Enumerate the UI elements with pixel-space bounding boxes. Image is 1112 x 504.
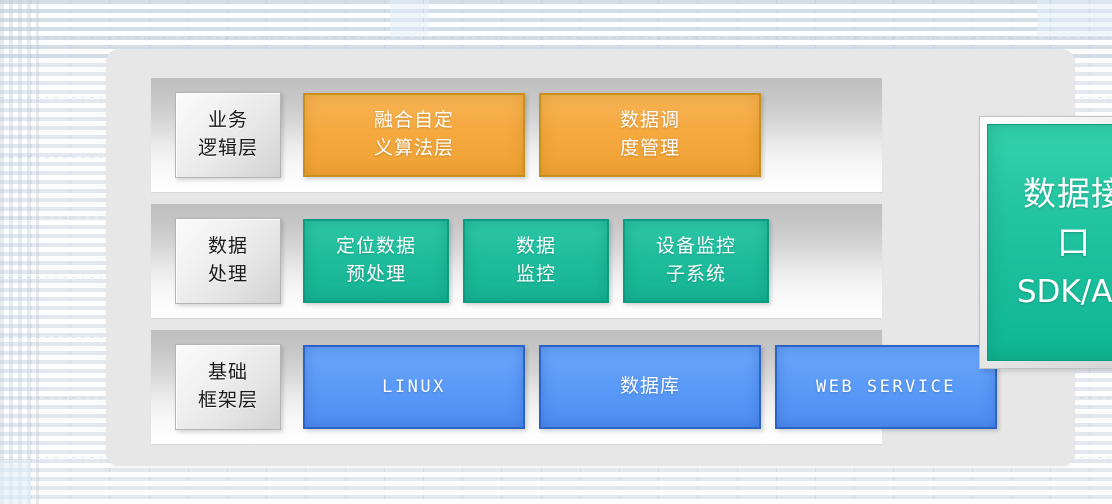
arch-box-device-monitoring-subsystem[interactable]: 设备监控 子系统 <box>623 219 769 303</box>
arch-box-line: 数据 <box>516 233 556 261</box>
architecture-outer-frame: 业务 逻辑层 融合自定 义算法层 数据调 度管理 数据 处理 <box>106 49 1075 466</box>
api-panel-line-1: 数据接 <box>1023 176 1112 212</box>
api-panel-line-2: 口 <box>1057 225 1091 261</box>
arch-box-data-monitoring[interactable]: 数据 监控 <box>463 219 609 303</box>
arch-box-web-service[interactable]: WEB SERVICE <box>775 345 997 429</box>
layer-label-line: 处理 <box>208 261 248 289</box>
layer-label-business-logic: 业务 逻辑层 <box>175 92 281 178</box>
arch-box-line: 子系统 <box>666 261 726 289</box>
arch-box-location-preprocess[interactable]: 定位数据 预处理 <box>303 219 449 303</box>
grid-line-horizontal <box>0 37 1112 38</box>
layer-label-data-processing: 数据 处理 <box>175 218 281 304</box>
grid-line-vertical <box>31 0 32 504</box>
layer-label-line: 业务 <box>208 107 248 135</box>
grid-tint-block <box>0 460 31 504</box>
arch-box-data-scheduling[interactable]: 数据调 度管理 <box>539 93 761 177</box>
arch-box-line: 融合自定 <box>374 107 454 135</box>
layer-boxes-business-logic: 融合自定 义算法层 数据调 度管理 <box>303 93 882 177</box>
arch-box-line: 数据库 <box>620 373 680 401</box>
layer-row-base-framework: 基础 框架层 LINUX 数据库 WEB SERVICE <box>151 330 882 444</box>
layer-label-line: 框架层 <box>198 387 258 415</box>
layer-label-line: 基础 <box>208 359 248 387</box>
layer-boxes-base-framework: LINUX 数据库 WEB SERVICE <box>303 345 1011 429</box>
arch-box-line: 设备监控 <box>656 233 736 261</box>
arch-box-data-interface-sdk-api[interactable]: 数据接 口 SDK/AP <box>987 124 1112 361</box>
arch-box-line: WEB SERVICE <box>816 375 956 400</box>
api-panel-bezel: 数据接 口 SDK/AP <box>979 116 1112 369</box>
layer-row-business-logic: 业务 逻辑层 融合自定 义算法层 数据调 度管理 <box>151 78 882 192</box>
arch-box-line: 预处理 <box>346 261 406 289</box>
layer-boxes-data-processing: 定位数据 预处理 数据 监控 设备监控 子系统 <box>303 219 882 303</box>
arch-box-fusion-algorithm[interactable]: 融合自定 义算法层 <box>303 93 525 177</box>
layer-stack: 业务 逻辑层 融合自定 义算法层 数据调 度管理 数据 处理 <box>151 78 882 444</box>
arch-box-line: 定位数据 <box>336 233 416 261</box>
grid-line-vertical <box>70 0 71 504</box>
layer-row-data-processing: 数据 处理 定位数据 预处理 数据 监控 设备监控 子系统 <box>151 204 882 318</box>
arch-box-line: 数据调 <box>620 107 680 135</box>
grid-tint-block <box>1037 0 1112 37</box>
arch-box-database[interactable]: 数据库 <box>539 345 761 429</box>
arch-box-linux[interactable]: LINUX <box>303 345 525 429</box>
arch-box-line: 度管理 <box>620 135 680 163</box>
layer-label-line: 数据 <box>208 233 248 261</box>
arch-box-line: 监控 <box>516 261 556 289</box>
layer-label-line: 逻辑层 <box>198 135 258 163</box>
layer-label-base-framework: 基础 框架层 <box>175 344 281 430</box>
api-panel-line-3: SDK/AP <box>1017 275 1112 309</box>
arch-box-line: 义算法层 <box>374 135 454 163</box>
arch-box-line: LINUX <box>382 375 446 400</box>
